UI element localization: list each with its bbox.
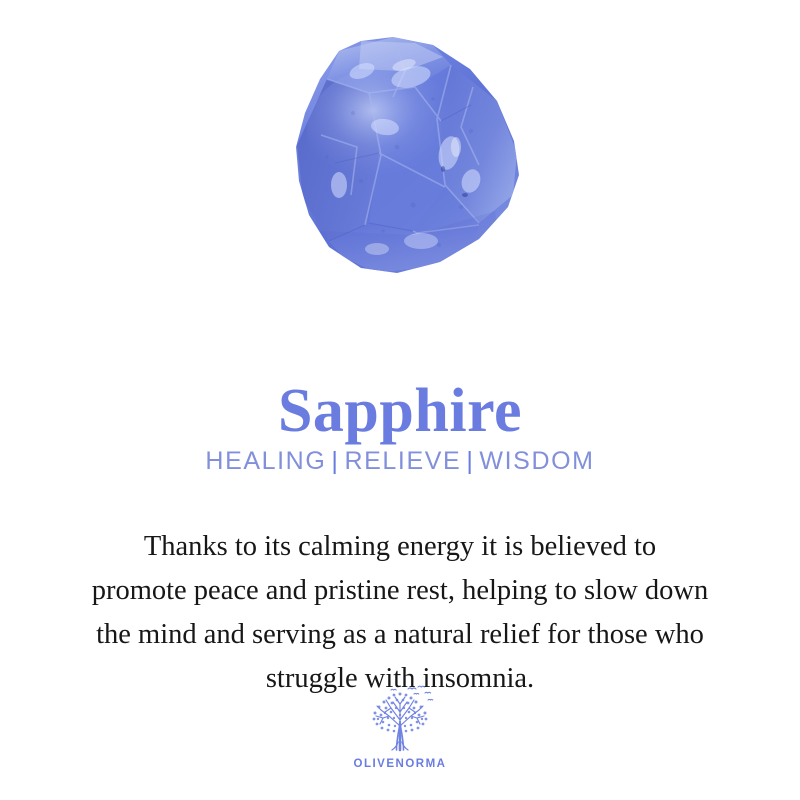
attribute-healing: HEALING bbox=[205, 447, 326, 475]
brand-logo: OLIVENORMA bbox=[0, 684, 800, 770]
description-text: Thanks to its calming energy it is belie… bbox=[0, 525, 800, 701]
description-line: Thanks to its calming energy it is belie… bbox=[0, 525, 800, 569]
attribute-relieve: RELIEVE bbox=[345, 447, 462, 475]
page-title: Sapphire bbox=[0, 379, 800, 444]
description-line: promote peace and pristine rest, helping… bbox=[0, 569, 800, 613]
brand-name: OLIVENORMA bbox=[354, 758, 447, 770]
description-line: the mind and serving as a natural relief… bbox=[0, 613, 800, 657]
attribute-wisdom: WISDOM bbox=[479, 447, 594, 475]
attributes-line: HEALING|RELIEVE|WISDOM bbox=[0, 447, 800, 476]
raw-sapphire-crystal-image bbox=[265, 35, 535, 285]
sapphire-product-card: Sapphire HEALING|RELIEVE|WISDOM Thanks t… bbox=[0, 0, 800, 800]
gemstone-image-container bbox=[0, 0, 800, 320]
olive-tree-with-birds-icon bbox=[361, 684, 439, 756]
attribute-separator-1: | bbox=[326, 447, 344, 475]
attribute-separator-2: | bbox=[461, 447, 479, 475]
